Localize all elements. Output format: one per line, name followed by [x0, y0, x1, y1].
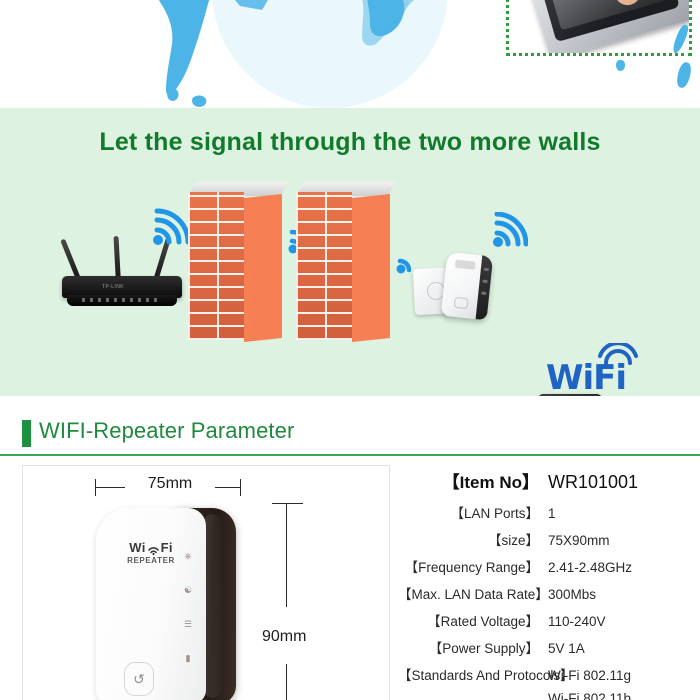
section-title: WIFI-Repeater Parameter [39, 418, 294, 444]
router-brand-label: TP-LINK [102, 284, 124, 290]
spec-label: 【Power Supply】 [398, 637, 548, 657]
spec-value: 2.41-2.48GHz [548, 560, 632, 575]
height-dimension-line-lower [286, 664, 287, 700]
wall-face [188, 192, 244, 340]
repeater-led [484, 268, 489, 272]
map-droplet-icon [616, 60, 625, 71]
device-brand-wi: Wi [129, 540, 145, 555]
spec-label: 【Rated Voltage】 [398, 610, 548, 630]
repeater-logo [455, 260, 476, 270]
spec-value: 5V 1A [548, 641, 585, 656]
repeater-led [481, 292, 486, 296]
wall-side [352, 194, 390, 342]
device-led-panel: ⎈ ☯ ☰ ▮ [182, 550, 204, 686]
spec-value: 1 [548, 506, 556, 521]
width-dimension-tick-left [95, 479, 96, 496]
section-accent-bar [22, 420, 31, 447]
wifi-signal-icon [492, 212, 528, 248]
product-device-illustration: Wi Fi REPEATER ↺ ⎈ ☯ ☰ ▮ [96, 508, 244, 700]
spec-value: WR101001 [548, 472, 638, 493]
spec-value: Wi-Fi 802.11b [548, 691, 631, 700]
device-gloss [204, 514, 221, 698]
spec-row-power-supply: 【Power Supply】 5V 1A [398, 637, 700, 657]
repeater-led [482, 280, 487, 284]
ethernet-led-icon: ☰ [182, 618, 194, 630]
repeater-button [454, 297, 469, 309]
wifi-arc-icon [147, 544, 160, 555]
parameter-section-header: WIFI-Repeater Parameter [0, 396, 700, 460]
spec-label: 【Standards And Protocols】 [398, 664, 548, 684]
wifi-repeater-device [441, 252, 493, 320]
spec-value: 75X90mm [548, 533, 610, 548]
tablet-photo [517, 0, 692, 43]
power-led-icon: ⎈ [182, 550, 194, 562]
device-brand-fi: Fi [161, 540, 173, 555]
spec-value: 110-240V [548, 614, 606, 629]
wall-face [296, 192, 352, 340]
status-led-icon: ▮ [182, 652, 194, 664]
spec-row-frequency-range: 【Frequency Range】 2.41-2.48GHz [398, 556, 700, 576]
height-dimension-label: 90mm [262, 628, 306, 646]
width-dimension-tick-right [240, 479, 241, 496]
wifi-led-icon: ☯ [182, 584, 194, 596]
wifi-signal-icon [152, 208, 192, 246]
device-brand-logo: Wi Fi REPEATER [118, 540, 184, 565]
section-divider [0, 454, 700, 456]
tablet-photo-dotted-frame [506, 0, 692, 56]
device-brand-subtitle: REPEATER [118, 556, 184, 565]
spec-label: 【LAN Ports】 [398, 502, 548, 522]
spec-row-lan-ports: 【LAN Ports】 1 [398, 502, 700, 522]
router-led-strip [82, 298, 158, 302]
spec-label: 【Max. LAN Data Rate】 [398, 583, 548, 603]
world-map-banner [0, 0, 700, 108]
spec-value: Wi-Fi 802.11g [548, 668, 631, 683]
spec-row-standards-and-protocols: 【Standards And Protocols】 Wi-Fi 802.11g [398, 664, 700, 684]
wall-side [244, 194, 282, 342]
signal-illustration-section: Let the signal through the two more wall… [0, 108, 700, 396]
spec-row-standards-continued: Wi-Fi 802.11b [398, 691, 700, 700]
wps-button: ↺ [124, 662, 154, 696]
signal-section-heading: Let the signal through the two more wall… [0, 128, 700, 157]
spec-label: 【size】 [398, 529, 548, 549]
wifi-wordmark-arcs-icon [597, 343, 643, 373]
width-dimension-label: 75mm [125, 475, 215, 493]
height-dimension-tick-top [272, 503, 303, 504]
spec-row-rated-voltage: 【Rated Voltage】 110-240V [398, 610, 700, 630]
product-detail-page: Let the signal through the two more wall… [0, 0, 700, 700]
spec-row-max-lan-data-rate: 【Max. LAN Data Rate】 300Mbs [398, 583, 700, 603]
spec-row-item-no: 【Item No】 WR101001 [398, 468, 700, 493]
height-dimension-line [286, 503, 287, 607]
specification-table: 【Item No】 WR101001 【LAN Ports】 1 【size】 … [398, 468, 700, 700]
spec-row-size: 【size】 75X90mm [398, 529, 700, 549]
spec-value: 300Mbs [548, 587, 596, 602]
repeater-dark-panel [476, 255, 494, 320]
spec-label: 【Frequency Range】 [398, 556, 548, 576]
spec-label: 【Item No】 [398, 468, 548, 493]
